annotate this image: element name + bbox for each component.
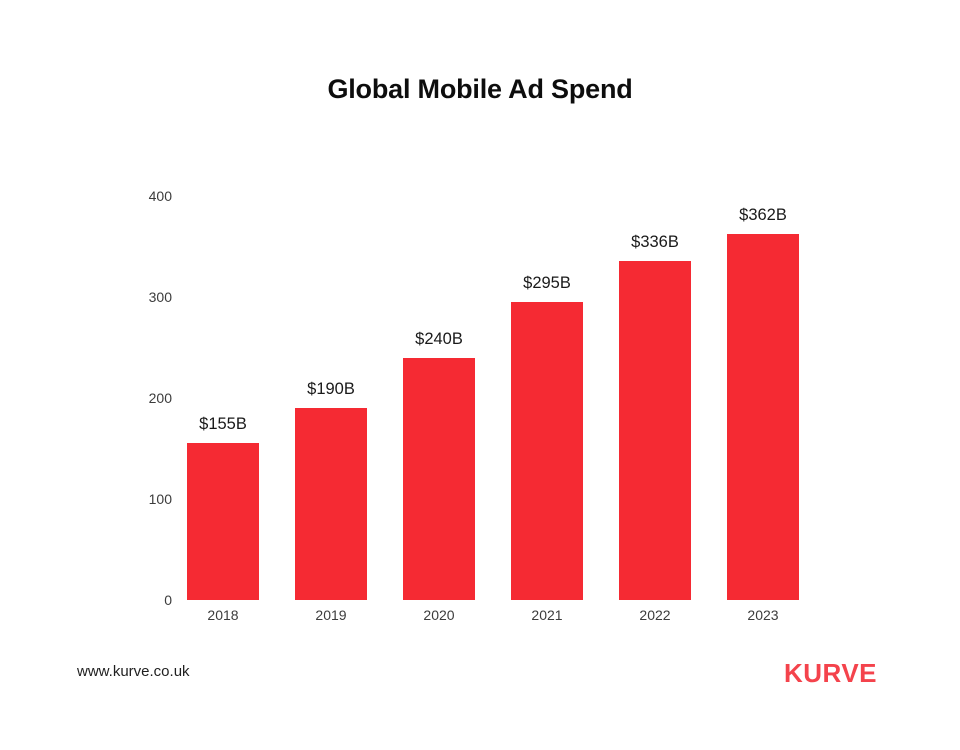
bar-value-label-2022: $336B [631, 233, 679, 252]
bar-2022[interactable] [619, 261, 691, 600]
footer-url: www.kurve.co.uk [77, 663, 190, 680]
x-axis-label-2019: 2019 [315, 607, 346, 623]
brand-logo: KURVE [784, 658, 877, 689]
chart-canvas: Global Mobile Ad Spend 0100200300400 $15… [0, 0, 960, 750]
bar-group-2019[interactable]: $190B2019 [295, 408, 367, 600]
bar-2019[interactable] [295, 408, 367, 600]
x-axis-label-2023: 2023 [747, 607, 778, 623]
bar-2018[interactable] [187, 443, 259, 600]
bar-group-2020[interactable]: $240B2020 [403, 358, 475, 600]
bar-group-2022[interactable]: $336B2022 [619, 261, 691, 600]
bar-2023[interactable] [727, 234, 799, 600]
bar-value-label-2021: $295B [523, 274, 571, 293]
bar-group-2021[interactable]: $295B2021 [511, 302, 583, 600]
bar-2021[interactable] [511, 302, 583, 600]
bar-group-2023[interactable]: $362B2023 [727, 234, 799, 600]
x-axis-label-2022: 2022 [639, 607, 670, 623]
bar-value-label-2023: $362B [739, 206, 787, 225]
bar-series: $155B2018$190B2019$240B2020$295B2021$336… [0, 0, 960, 750]
bar-2020[interactable] [403, 358, 475, 600]
x-axis-label-2021: 2021 [531, 607, 562, 623]
bar-value-label-2020: $240B [415, 330, 463, 349]
bar-value-label-2019: $190B [307, 380, 355, 399]
x-axis-label-2018: 2018 [207, 607, 238, 623]
bar-value-label-2018: $155B [199, 415, 247, 434]
bar-group-2018[interactable]: $155B2018 [187, 443, 259, 600]
plot-area: 0100200300400 $155B2018$190B2019$240B202… [0, 0, 960, 750]
x-axis-label-2020: 2020 [423, 607, 454, 623]
